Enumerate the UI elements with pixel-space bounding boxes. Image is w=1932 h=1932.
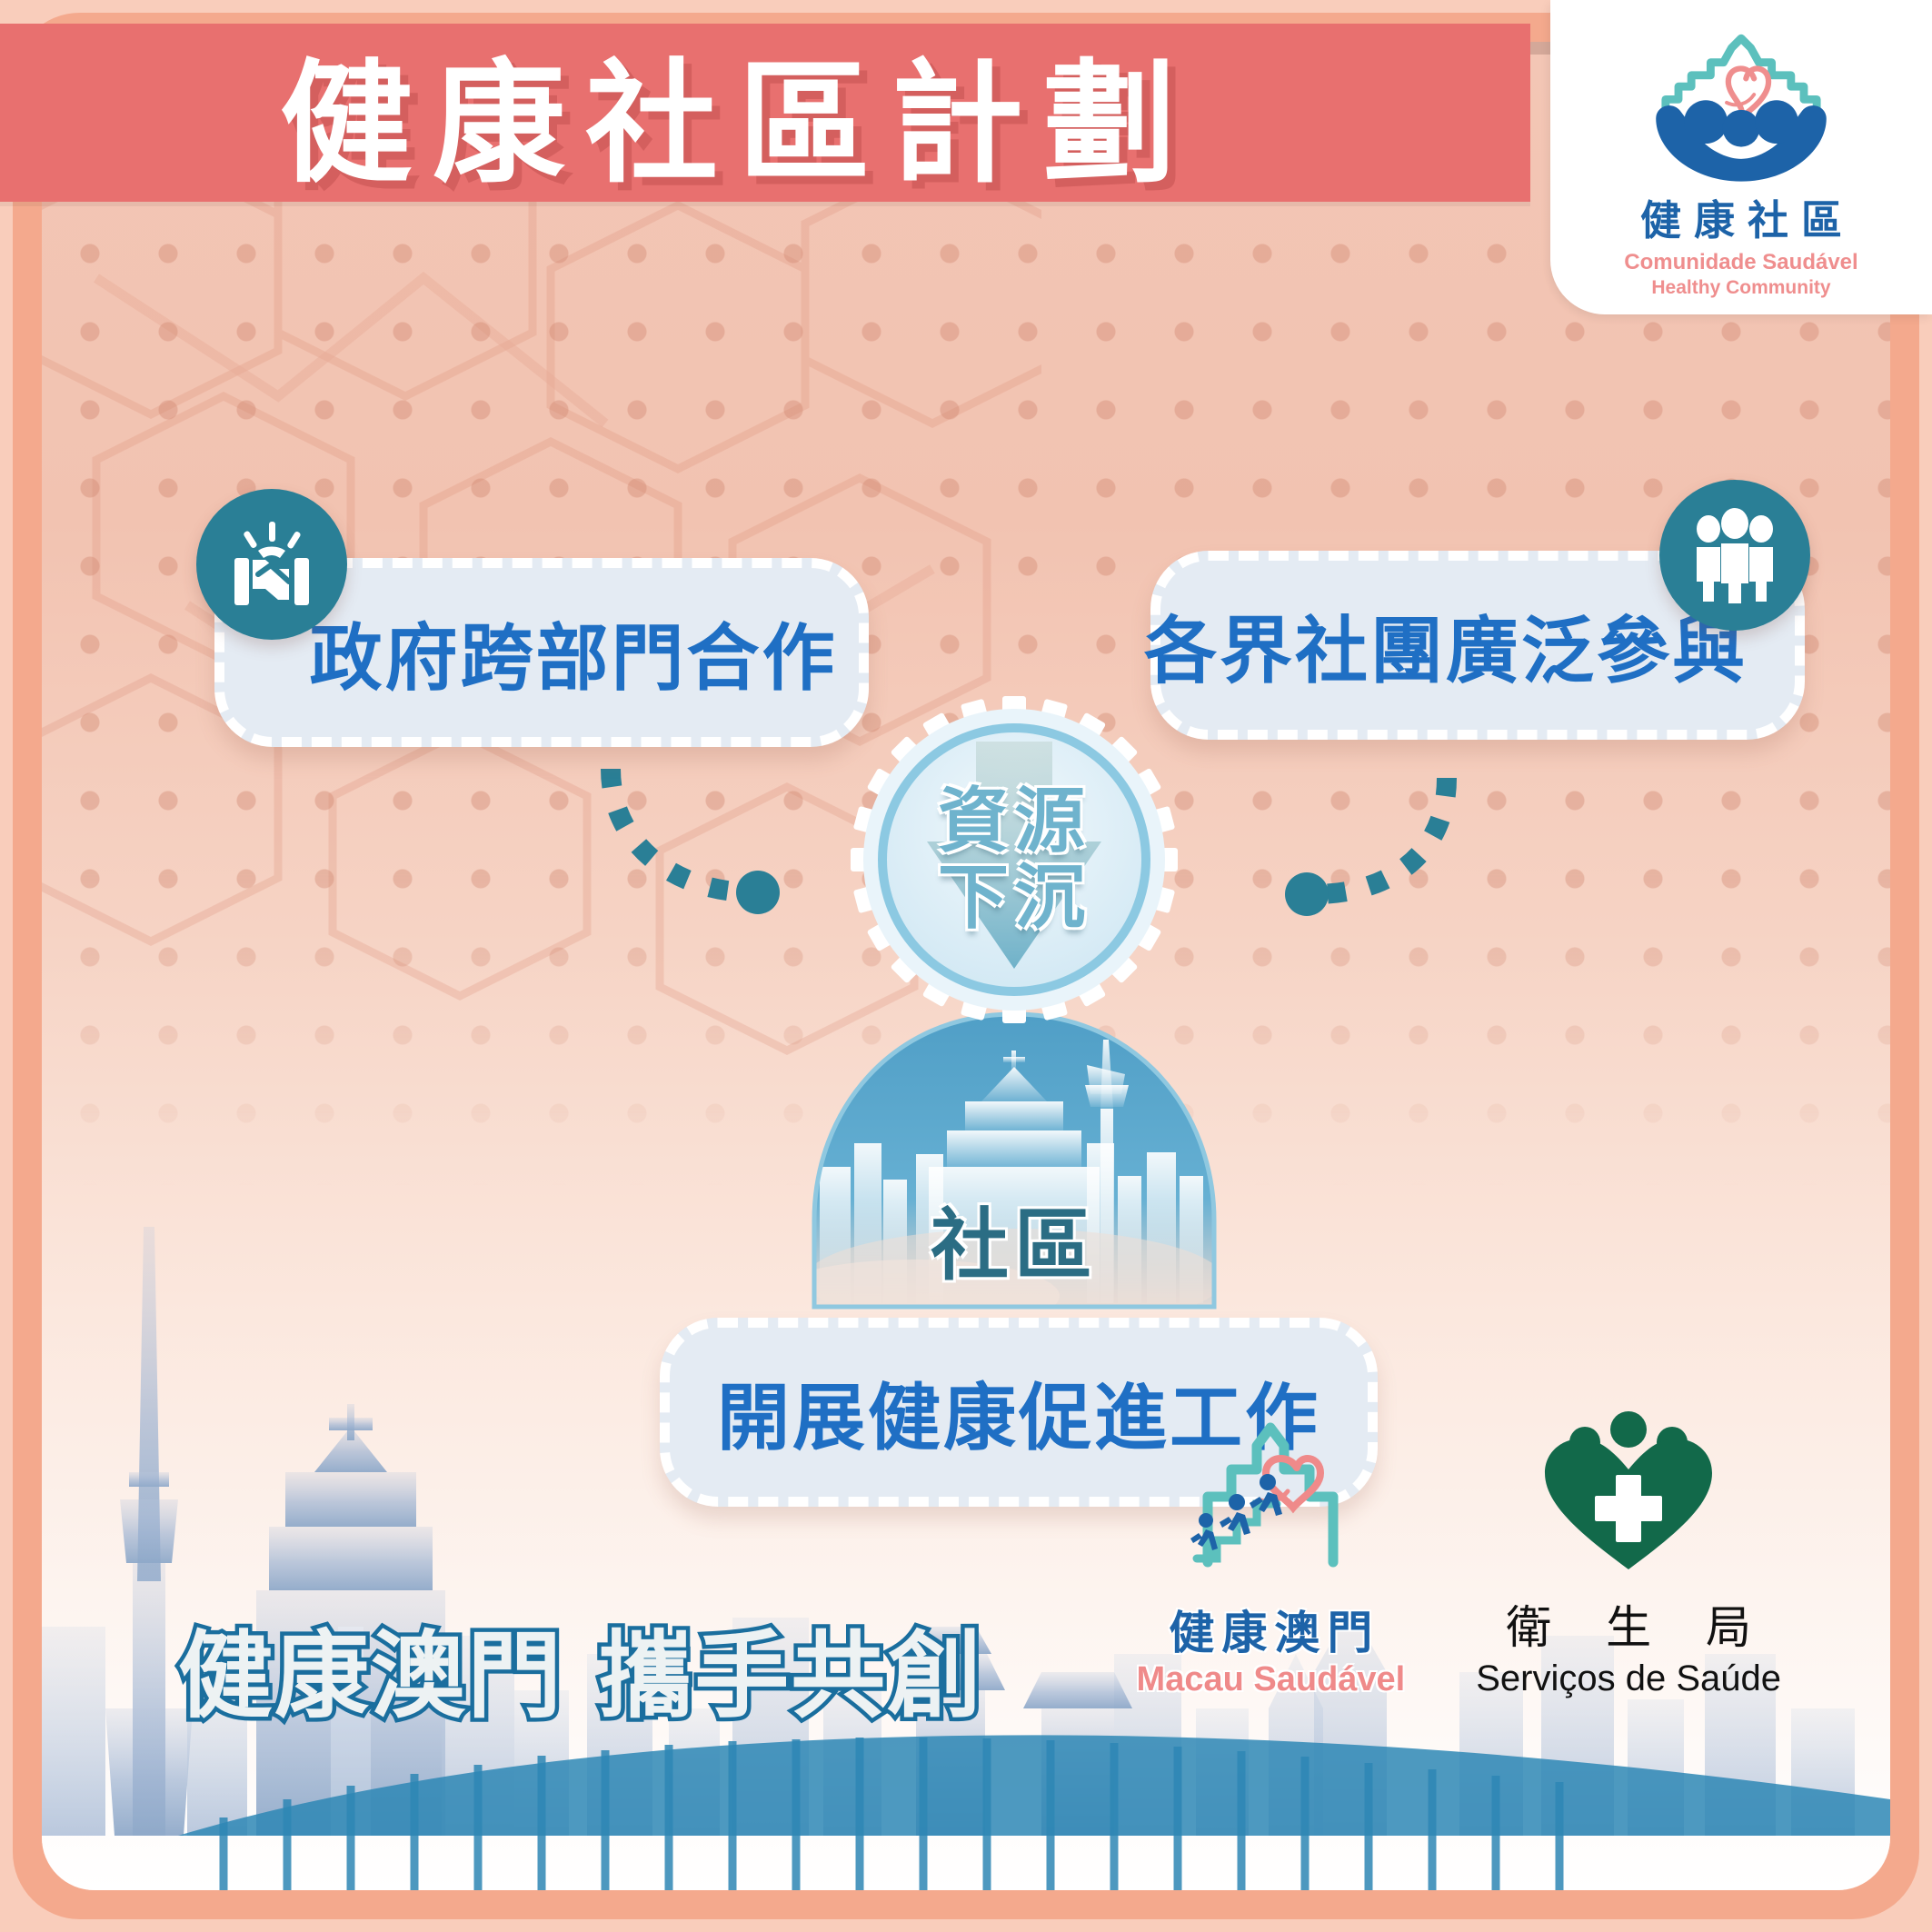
slogan-text: 健康澳門 攜手共創: [178, 1598, 983, 1736]
title-banner: 健康社區計劃: [0, 24, 1530, 202]
community-label: 社區: [787, 1181, 1241, 1295]
servicos-saude-cn: 衛 生 局: [1486, 1591, 1771, 1657]
handshake-icon-glyph: [222, 514, 322, 614]
handshake-icon: [196, 489, 347, 640]
macau-saudavel-logo: 健康澳門 Macau Saudável: [1137, 1413, 1406, 1699]
servicos-saude-logo: 衛 生 局 Serviços de Saúde: [1476, 1409, 1781, 1699]
healthy-community-brand-card: 健康社區 Comunidade Saudável Healthy Communi…: [1550, 0, 1932, 314]
poster-content: 社區: [42, 42, 1890, 1890]
page-title: 健康社區計劃: [0, 17, 1476, 209]
servicos-saude-pt: Serviços de Saúde: [1476, 1658, 1781, 1699]
people-group-icon-glyph: [1685, 505, 1785, 605]
poster-root: 社區: [0, 0, 1932, 1932]
gov-cooperation-label: 政府跨部門合作: [246, 600, 838, 705]
macau-saudavel-icon: [1166, 1413, 1375, 1595]
resources-medallion: 資源 下沉: [851, 696, 1178, 1023]
connector-line-left: [551, 738, 842, 920]
macau-saudavel-cn: 健康澳門: [1161, 1597, 1379, 1662]
footer-logos: 健康澳門 Macau Saudável 衛 生 局: [1137, 1409, 1781, 1699]
health-bureau-icon: [1529, 1409, 1728, 1582]
medallion-text: 資源 下沉: [851, 696, 1178, 1023]
community-dome: 社區: [787, 1007, 1241, 1316]
medallion-line1: 資源: [938, 786, 1090, 857]
brand-name-pt: Comunidade Saudável: [1624, 250, 1857, 275]
connector-line-right: [1250, 714, 1541, 923]
macau-saudavel-pt: Macau Saudável: [1137, 1660, 1406, 1699]
medallion-line2: 下沉: [938, 862, 1090, 933]
brand-name-en: Healthy Community: [1651, 277, 1830, 299]
brand-name-cn: 健康社區: [1628, 187, 1855, 246]
people-group-icon: [1659, 480, 1810, 631]
healthy-community-logo-icon: [1637, 27, 1846, 191]
